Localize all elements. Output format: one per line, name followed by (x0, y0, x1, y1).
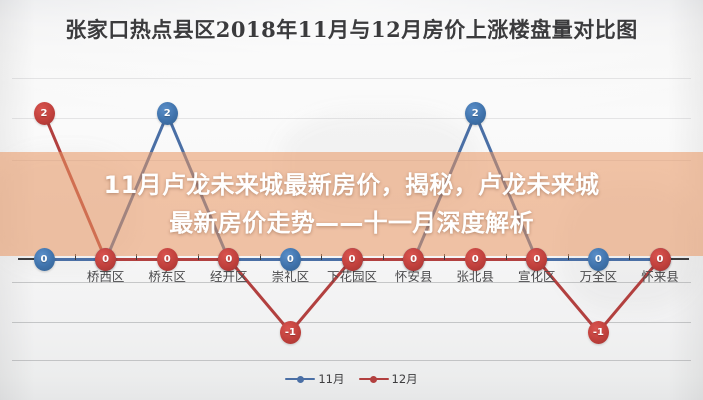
data-point-marker[interactable]: 0 (342, 248, 363, 271)
legend-item-dec: 12月 (359, 371, 418, 387)
data-point-marker[interactable]: 2 (465, 102, 486, 125)
gridline-top (12, 78, 691, 79)
gridline-upper (12, 118, 691, 119)
data-point-marker[interactable]: -1 (588, 321, 609, 344)
headline-text: 11月卢龙未来城最新房价，揭秘，卢龙未来城 最新房价走势——十一月深度解析 (0, 166, 703, 242)
data-point-marker[interactable]: 0 (650, 248, 671, 271)
axis-tick-minor (506, 254, 507, 260)
screenshot-canvas: 张家口热点县区2018年11月与12月房价上涨楼盘量对比图 0020000200… (0, 0, 703, 400)
headline-line-1: 11月卢龙未来城最新房价，揭秘，卢龙未来城 (14, 166, 689, 204)
data-point-marker[interactable]: 0 (526, 248, 547, 271)
chart-legend: 11月 12月 (0, 371, 703, 387)
legend-label-dec: 12月 (392, 371, 418, 387)
gridline-below-3 (12, 360, 691, 361)
axis-tick-minor (629, 254, 630, 260)
data-point-marker[interactable]: 0 (34, 248, 55, 271)
legend-swatch-nov-icon (285, 378, 315, 380)
data-point-marker[interactable]: 2 (157, 102, 178, 125)
data-point-marker[interactable]: 0 (465, 248, 486, 271)
headline-line-2: 最新房价走势——十一月深度解析 (14, 204, 689, 242)
data-point-marker[interactable]: 0 (218, 248, 239, 271)
data-point-marker[interactable]: 0 (157, 248, 178, 271)
legend-swatch-dec-icon (359, 378, 389, 380)
data-point-marker[interactable]: 0 (588, 248, 609, 271)
axis-tick-minor (198, 254, 199, 260)
data-point-marker[interactable]: -1 (280, 321, 301, 344)
legend-label-nov: 11月 (318, 371, 344, 387)
axis-tick-minor (383, 254, 384, 260)
legend-item-nov: 11月 (285, 371, 344, 387)
data-point-marker[interactable]: 0 (95, 248, 116, 271)
data-point-marker[interactable]: 2 (34, 102, 55, 125)
axis-tick-minor (75, 254, 76, 260)
axis-tick-minor (136, 254, 137, 260)
axis-tick-minor (568, 254, 569, 260)
axis-tick-minor (321, 254, 322, 260)
data-point-marker[interactable]: 0 (280, 248, 301, 271)
axis-tick-minor (260, 254, 261, 260)
data-point-marker[interactable]: 0 (403, 248, 424, 271)
gridline-mid (12, 160, 691, 161)
axis-tick-minor (444, 254, 445, 260)
